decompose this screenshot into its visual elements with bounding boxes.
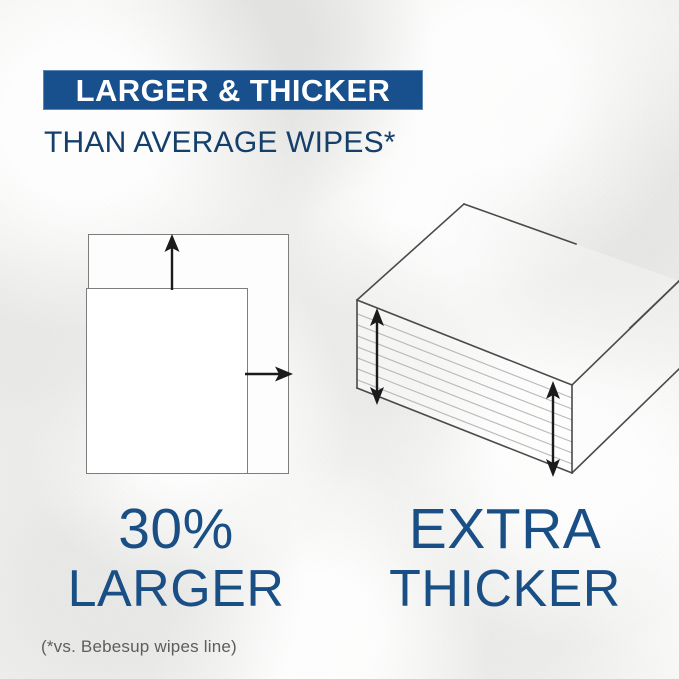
stat-block-larger: 30% LARGER [26, 498, 326, 618]
thickness-stack-diagram [340, 195, 679, 485]
poster-canvas: LARGER & THICKER THAN AVERAGE WIPES* [0, 0, 679, 679]
width-increase-arrow [244, 362, 294, 386]
headline-text: LARGER & THICKER [76, 75, 391, 106]
size-comparison-diagram [86, 232, 296, 480]
stat-larger-value: 30% [26, 498, 326, 560]
subheadline-text: THAN AVERAGE WIPES* [44, 126, 396, 160]
stat-thicker-label: THICKER [355, 560, 655, 618]
stat-thicker-value: EXTRA [355, 498, 655, 560]
footnote-text: (*vs. Bebesup wipes line) [41, 637, 237, 657]
stat-block-thicker: EXTRA THICKER [355, 498, 655, 618]
stat-larger-label: LARGER [26, 560, 326, 618]
wipe-stack-3d [340, 195, 679, 485]
height-increase-arrow [160, 232, 184, 292]
headline-banner: LARGER & THICKER [43, 70, 423, 110]
average-wipe-outline [86, 288, 248, 474]
